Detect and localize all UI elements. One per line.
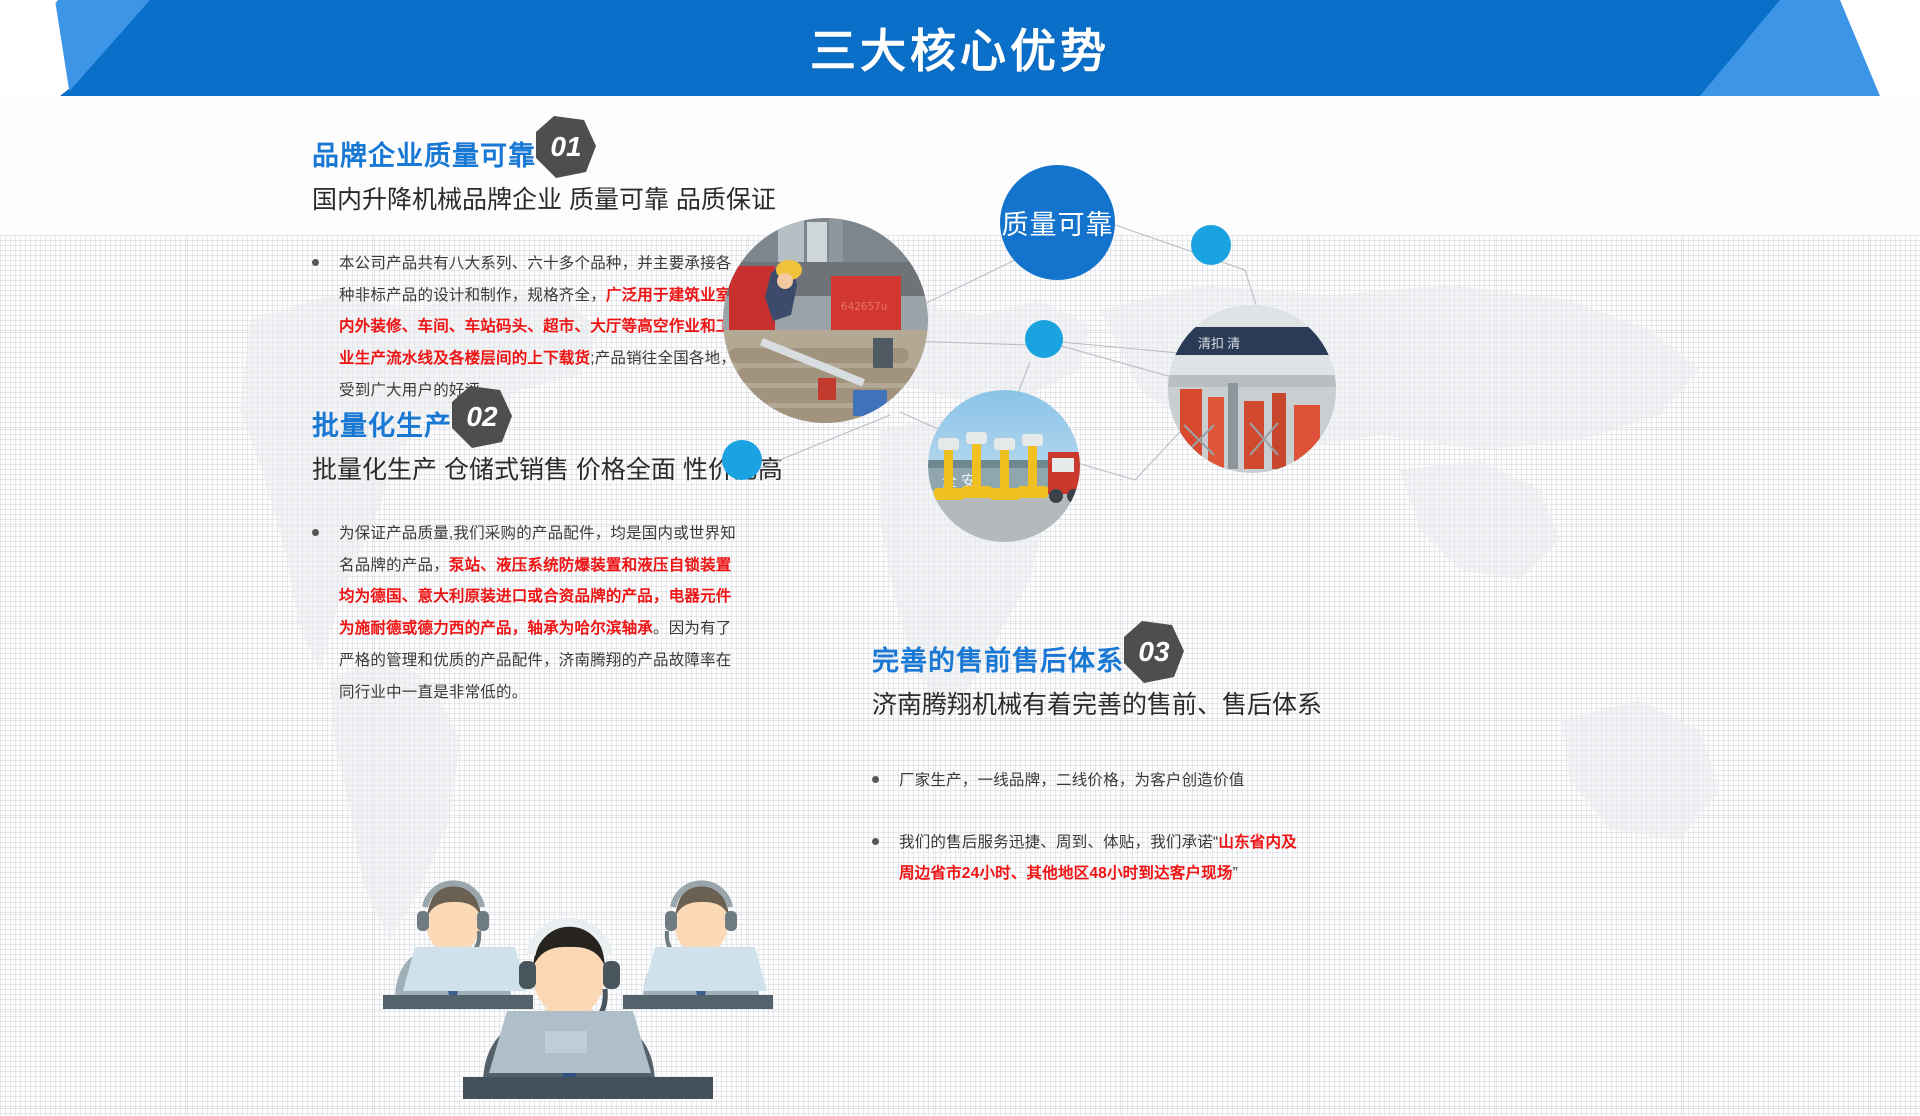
section-01-title: 品牌企业质量可靠 [312,140,536,174]
bullet-dot-icon [872,776,879,783]
yard-photo-node: 全 安 [928,390,1080,542]
section-01-badge: 01 [532,114,598,180]
svg-text:642657u: 642657u [841,300,887,313]
showroom-photo-node: 清扣 清 [1168,305,1336,473]
svg-text:清扣 清: 清扣 清 [1198,336,1240,351]
factory-photo-node: 642657u [723,218,928,423]
section-01: 品牌企业质量可靠 01 国内升降机械品牌企业 质量可靠 品质保证 本公司产品共有… [312,140,742,429]
bullet-dot-icon [312,259,319,266]
agent-right [623,883,773,1009]
quality-node-label: 质量可靠 [1002,203,1114,242]
quality-network-graphic: 质量可靠 642657u [700,150,1340,570]
section-02-title: 批量化生产 [312,410,452,444]
section-03-badge: 03 [1120,619,1186,685]
section-03-bullets: 厂家生产，一线品牌，二线价格，为客户创造价值 我们的售后服务迅捷、周到、体贴，我… [872,765,1312,890]
header-banner: 三大核心优势 [0,0,1920,112]
quality-node: 质量可靠 [1000,165,1115,280]
page-title: 三大核心优势 [0,0,1920,96]
section-03-bullet-text-2: 我们的售后服务迅捷、周到、体贴，我们承诺“山东省内及周边省市24小时、其他地区4… [899,827,1312,891]
body-text: ” [1233,865,1238,882]
section-03-head: 完善的售前售后体系 03 [872,645,1312,685]
section-01-bullet-text: 本公司产品共有八大系列、六十多个品种，并主要承接各种非标产品的设计和制作，规格齐… [339,248,742,407]
section-03-bullet-text-1: 厂家生产，一线品牌，二线价格，为客户创造价值 [899,765,1244,797]
section-02-head: 批量化生产 02 [312,410,742,450]
section-02-subtitle: 批量化生产 仓储式销售 价格全面 性价比高 [312,454,742,488]
section-01-bullets: 本公司产品共有八大系列、六十多个品种，并主要承接各种非标产品的设计和制作，规格齐… [312,248,742,407]
bullet-dot-icon [312,529,319,536]
dot-node-center [1025,320,1063,358]
section-02-badge: 02 [448,384,514,450]
dot-node-left [722,440,762,480]
section-02-badge-number: 02 [448,384,514,450]
call-center-illustration [355,795,785,1116]
body-text: 厂家生产，一线品牌，二线价格，为客户创造价值 [899,772,1244,789]
section-02-bullets: 为保证产品质量,我们采购的产品配件，均是国内或世界知名品牌的产品，泵站、液压系统… [312,518,742,709]
section-03-title: 完善的售前售后体系 [872,645,1124,679]
section-01-subtitle: 国内升降机械品牌企业 质量可靠 品质保证 [312,184,742,218]
bullet-dot-icon [872,838,879,845]
body-text: 我们的售后服务迅捷、周到、体贴，我们承诺“ [899,834,1218,851]
section-01-badge-number: 01 [532,114,598,180]
section-03: 完善的售前售后体系 03 济南腾翔机械有着完善的售前、售后体系 厂家生产，一线品… [872,645,1312,912]
list-item: 我们的售后服务迅捷、周到、体贴，我们承诺“山东省内及周边省市24小时、其他地区4… [872,827,1312,891]
section-01-head: 品牌企业质量可靠 01 [312,140,742,180]
section-02-bullet-text: 为保证产品质量,我们采购的产品配件，均是国内或世界知名品牌的产品，泵站、液压系统… [339,518,742,709]
section-03-badge-number: 03 [1120,619,1186,685]
dot-node-top-right [1191,225,1231,265]
list-item: 本公司产品共有八大系列、六十多个品种，并主要承接各种非标产品的设计和制作，规格齐… [312,248,742,407]
section-03-subtitle: 济南腾翔机械有着完善的售前、售后体系 [872,689,1312,723]
list-item: 厂家生产，一线品牌，二线价格，为客户创造价值 [872,765,1312,797]
page-root: 三大核心优势 品牌企业质量可靠 01 国内升降机械品牌企业 质量可靠 品质保证 … [0,0,1920,1116]
section-02: 批量化生产 02 批量化生产 仓储式销售 价格全面 性价比高 为保证产品质量,我… [312,410,742,730]
agent-left [383,883,533,1009]
list-item: 为保证产品质量,我们采购的产品配件，均是国内或世界知名品牌的产品，泵站、液压系统… [312,518,742,709]
